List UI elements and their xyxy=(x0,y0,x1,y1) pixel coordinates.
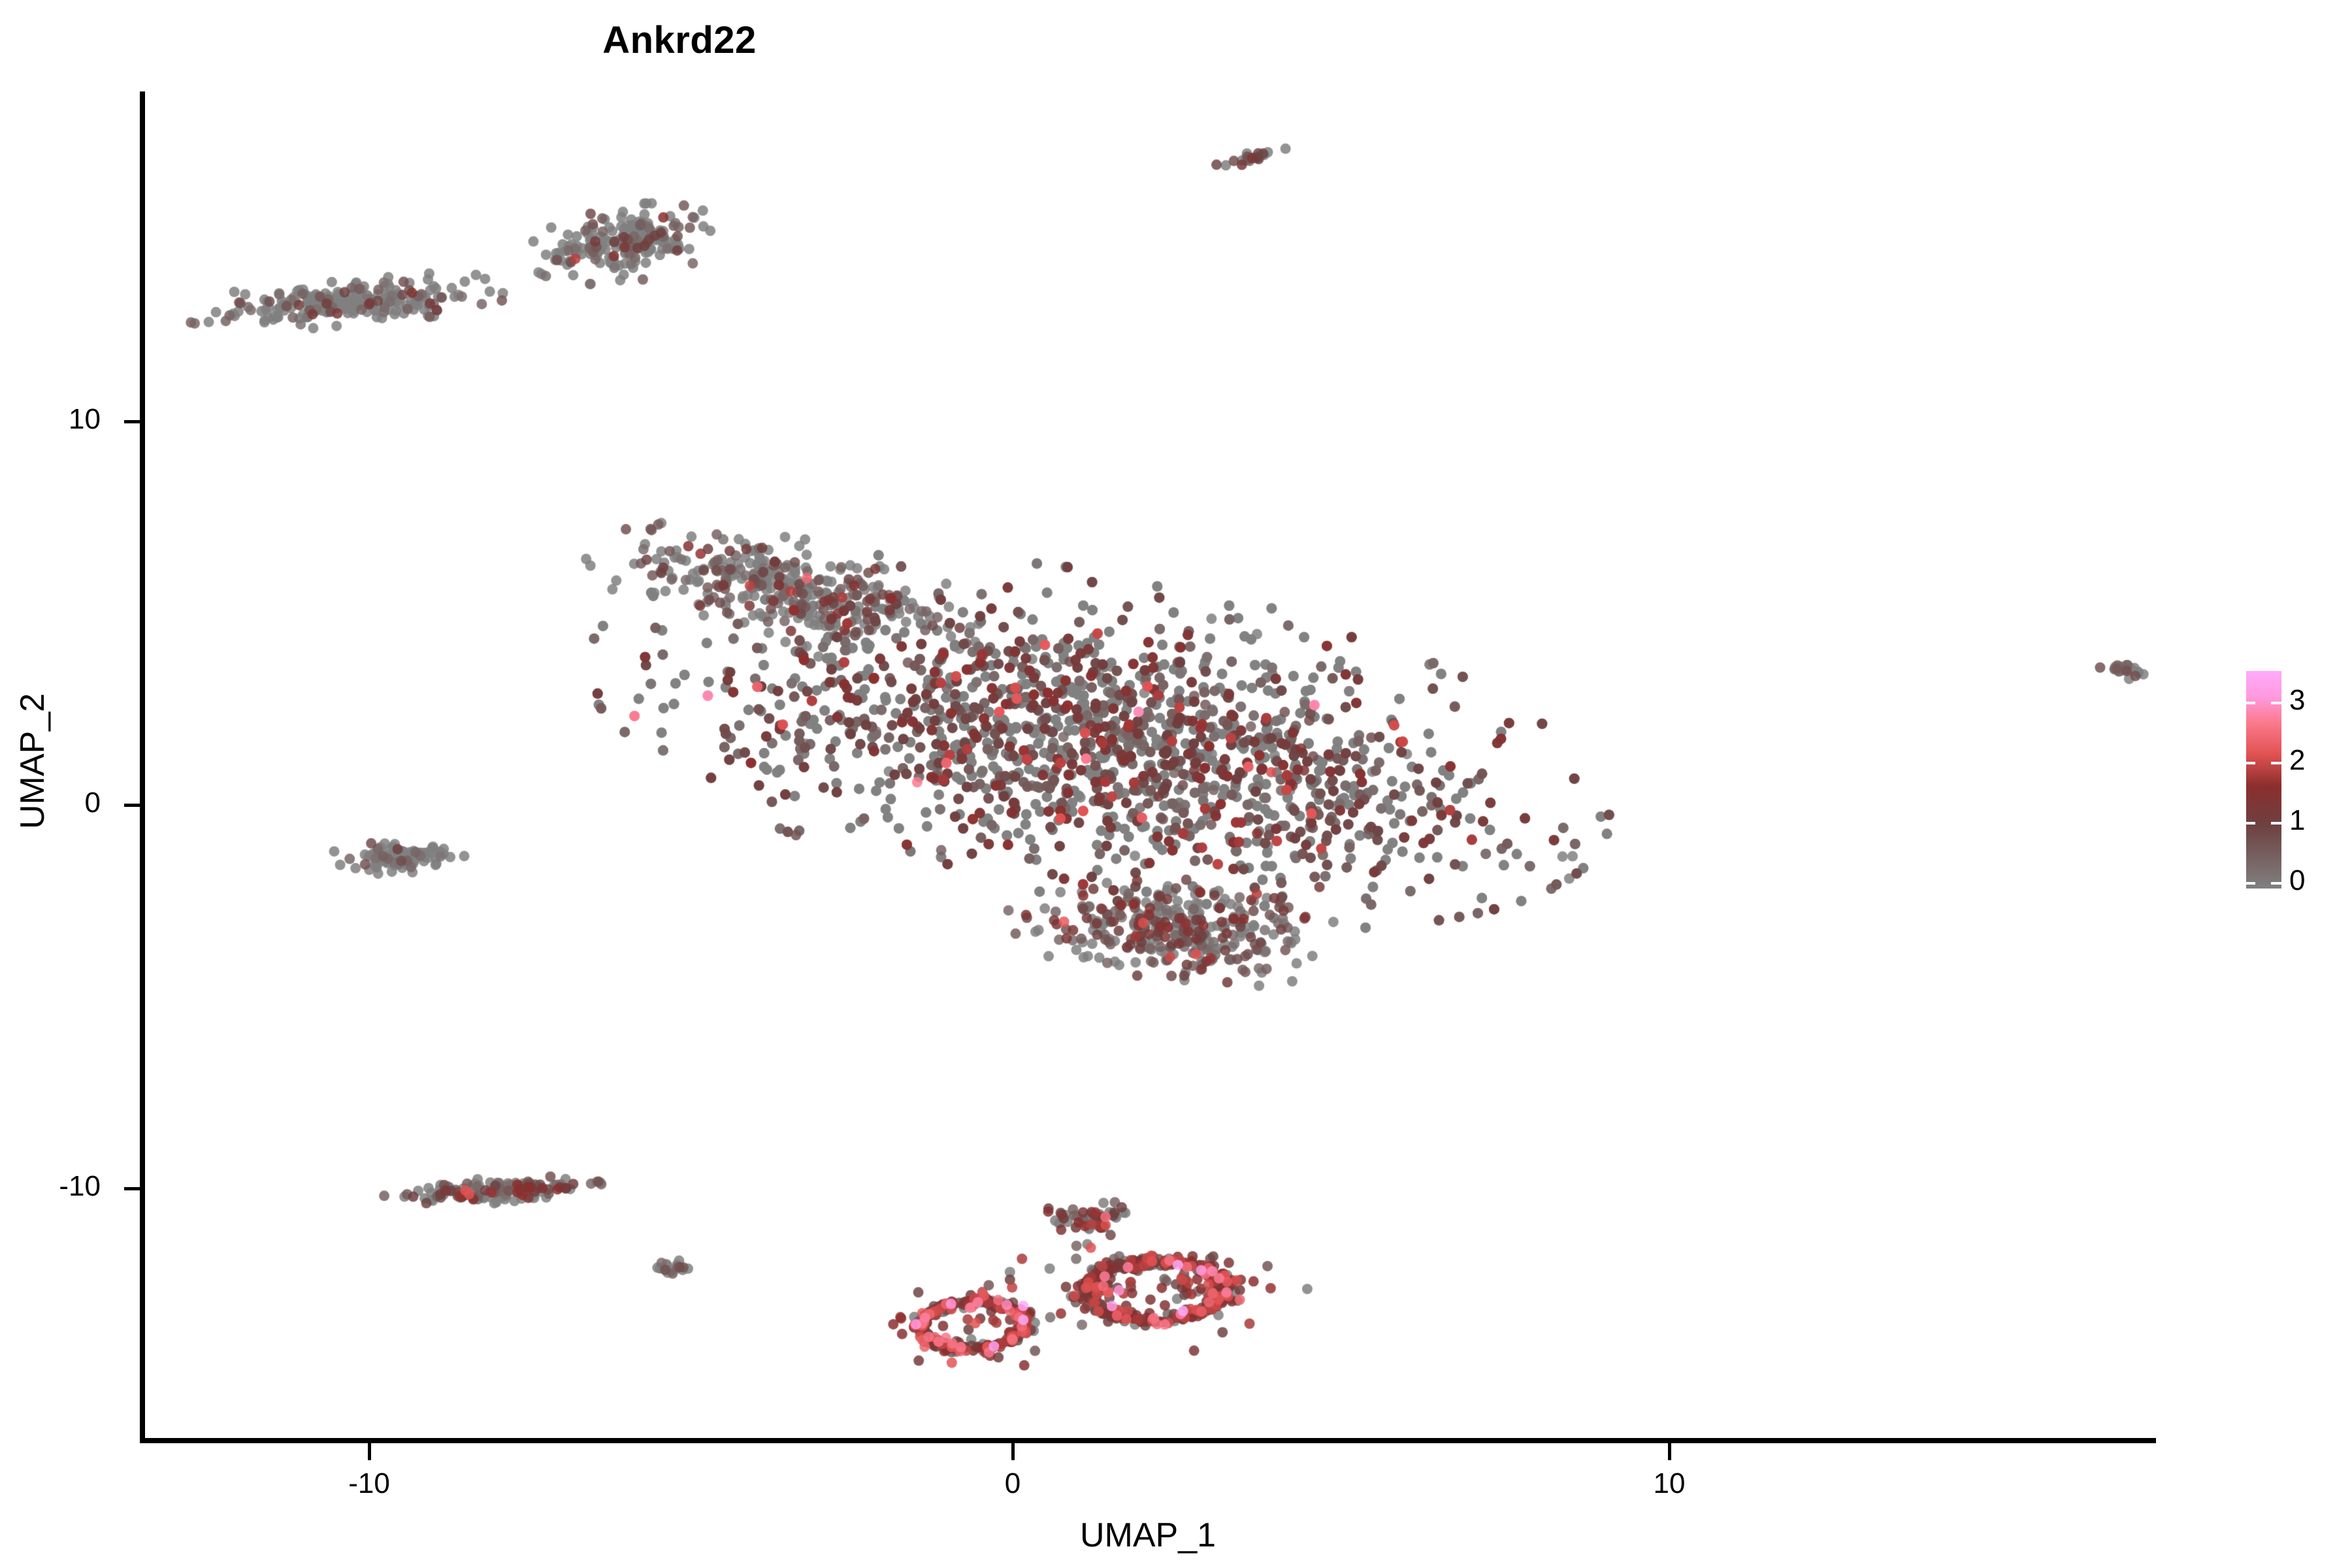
legend-label-0: 0 xyxy=(2289,866,2342,895)
y-axis-title: UMAP_2 xyxy=(13,532,52,990)
x-axis-line xyxy=(140,1438,2156,1443)
x-tick-mark-neg10 xyxy=(368,1443,371,1460)
x-tick-label-10: 10 xyxy=(1604,1467,1735,1500)
y-axis-line xyxy=(140,91,145,1443)
scatter-points-canvas xyxy=(144,91,2156,1441)
plot-panel xyxy=(144,91,2156,1441)
legend-tick-3-right xyxy=(2271,702,2283,704)
y-tick-mark-0 xyxy=(124,804,141,807)
page-title: Ankrd22 xyxy=(0,18,2352,62)
legend-label-3: 3 xyxy=(2289,686,2342,715)
legend-tick-2-right xyxy=(2271,762,2283,764)
legend-tick-2-left xyxy=(2246,762,2255,764)
umap-feature-plot: Ankrd22 10 0 -10 -10 0 10 UMAP_2 UMAP_1 … xyxy=(0,0,2352,1568)
x-tick-label-neg10: -10 xyxy=(304,1467,434,1500)
x-tick-mark-0 xyxy=(1011,1443,1015,1460)
legend-tick-0-left xyxy=(2246,882,2255,885)
x-tick-label-0: 0 xyxy=(947,1467,1078,1500)
legend-tick-1-left xyxy=(2246,822,2255,825)
plot-title-text: Ankrd22 xyxy=(602,18,757,62)
x-tick-mark-10 xyxy=(1668,1443,1671,1460)
legend-label-2: 2 xyxy=(2289,746,2342,775)
y-tick-mark-10 xyxy=(124,420,141,423)
x-axis-title: UMAP_1 xyxy=(140,1516,2156,1555)
legend-tick-3-left xyxy=(2246,702,2255,704)
legend-tick-1-right xyxy=(2271,822,2283,825)
legend-label-1: 1 xyxy=(2289,806,2342,835)
legend-tick-0-right xyxy=(2271,882,2283,885)
y-tick-mark-neg10 xyxy=(124,1187,141,1190)
y-tick-label-10: 10 xyxy=(0,403,111,436)
y-tick-label-neg10: -10 xyxy=(0,1170,111,1203)
color-legend: 3 2 1 0 xyxy=(2246,666,2344,902)
